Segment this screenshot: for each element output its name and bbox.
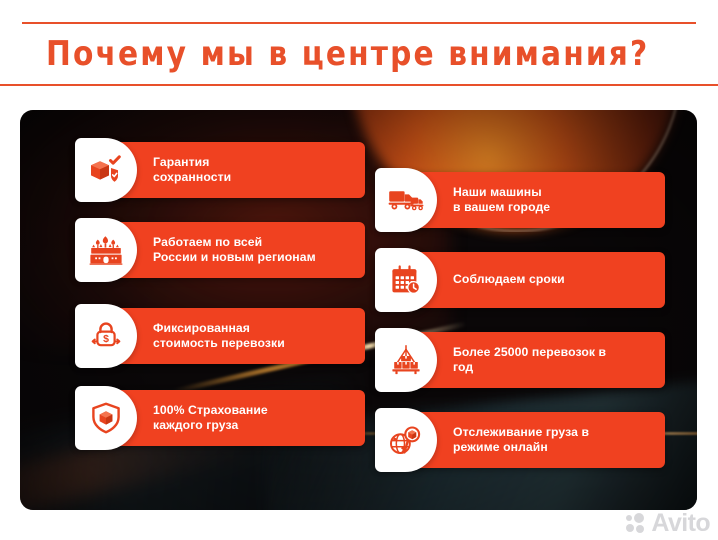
feature-icon-badge: $: [75, 304, 137, 368]
feature-icon-badge: [375, 168, 437, 232]
feature-icon-badge: [375, 328, 437, 392]
feature-card-label: Отслеживание груза в режиме онлайн: [453, 425, 589, 456]
feature-card-fixed-price[interactable]: $ Фиксированная стоимость перевозки: [75, 308, 365, 364]
feature-card-tracking[interactable]: Отслеживание груза в режиме онлайн: [375, 412, 665, 468]
feature-icon-badge: [375, 248, 437, 312]
header-rule-top: [22, 22, 696, 24]
shield-box-icon: [90, 402, 122, 434]
page-header: Почему мы в центре внимания?: [0, 0, 718, 100]
avito-watermark-label: Avito: [651, 511, 710, 536]
feature-card-label: Более 25000 перевозок в год: [453, 345, 606, 376]
trucks-icon: [388, 186, 424, 214]
feature-icon-badge: [75, 138, 137, 202]
feature-card-on-time[interactable]: Соблюдаем сроки: [375, 252, 665, 308]
calendar-clock-icon: [390, 264, 422, 296]
padlock-dollar-icon: $: [90, 320, 122, 352]
avito-dots-icon: [626, 513, 647, 534]
feature-card-label: Наши машины в вашем городе: [453, 185, 550, 216]
globe-magnifier-box-icon: [389, 424, 423, 456]
svg-text:$: $: [103, 333, 109, 345]
feature-card-insurance[interactable]: 100% Страхование каждого груза: [75, 390, 365, 446]
feature-card-label: Соблюдаем сроки: [453, 272, 565, 288]
feature-card-volume[interactable]: Более 25000 перевозок в год: [375, 332, 665, 388]
crane-pallet-boxes-icon: [388, 345, 424, 375]
avito-watermark: Avito: [626, 511, 710, 536]
feature-card-label: 100% Страхование каждого груза: [153, 403, 268, 434]
feature-card-local-fleet[interactable]: Наши машины в вашем городе: [375, 172, 665, 228]
feature-card-coverage[interactable]: Работаем по всей России и новым регионам: [75, 222, 365, 278]
feature-icon-badge: [375, 408, 437, 472]
feature-card-guarantee[interactable]: Гарантия сохранности: [75, 142, 365, 198]
feature-card-label: Работаем по всей России и новым регионам: [153, 235, 316, 266]
kremlin-icon: [89, 235, 123, 265]
features-panel: Гарантия сохранности: [20, 110, 697, 510]
feature-card-label: Гарантия сохранности: [153, 155, 231, 186]
box-shield-check-icon: [89, 155, 123, 185]
feature-card-label: Фиксированная стоимость перевозки: [153, 321, 285, 352]
feature-icon-badge: [75, 386, 137, 450]
header-rule-bottom: [0, 84, 718, 86]
page-title: Почему мы в центре внимания?: [46, 28, 667, 80]
feature-icon-badge: [75, 218, 137, 282]
